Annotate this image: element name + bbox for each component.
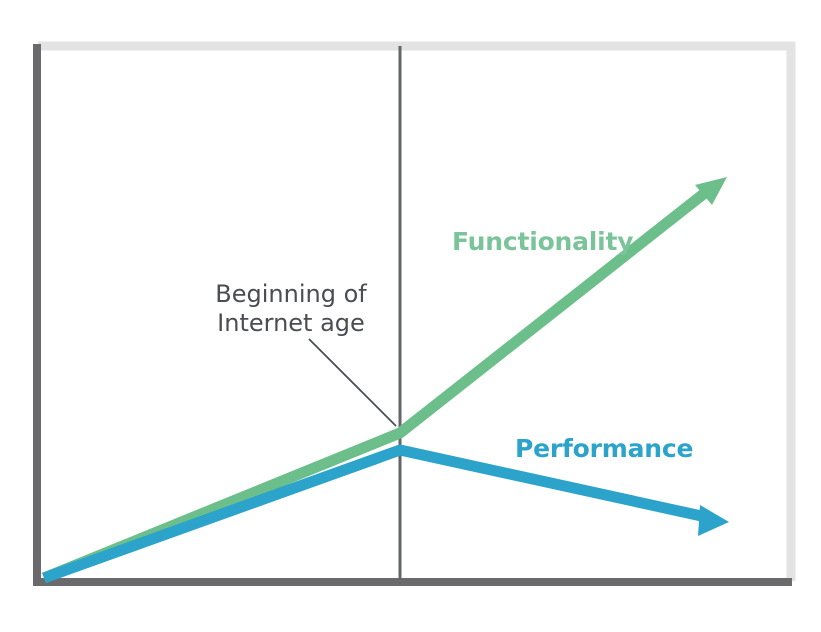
chart-canvas: Beginning of Internet age Functionality …: [0, 0, 821, 632]
series-label-functionality: Functionality: [452, 227, 633, 256]
annotation-leader-line: [309, 339, 396, 426]
series-label-performance: Performance: [515, 434, 693, 463]
annotation-line-1: Beginning of: [215, 280, 367, 308]
performance-arrowhead-icon: [698, 505, 729, 536]
plot-border-light: [38, 46, 791, 581]
performance-line: [44, 450, 706, 578]
annotation-line-2: Internet age: [217, 309, 365, 337]
line-chart: Beginning of Internet age Functionality …: [0, 0, 821, 632]
